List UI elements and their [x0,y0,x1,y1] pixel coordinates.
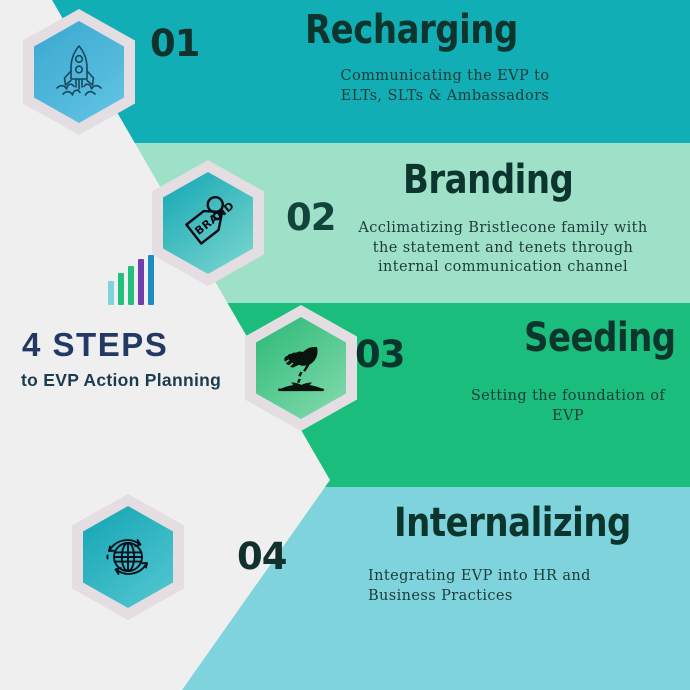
step-3-description: Setting the foundation of EVP [448,387,688,426]
step-4-title: Internalizing [394,503,631,543]
page-subtitle: to EVP Action Planning [21,372,221,390]
step-1-badge[interactable] [23,9,135,135]
decoration-bar [118,273,124,305]
step-2-description: Acclimatizing Bristlecone family with th… [358,219,648,278]
decoration-bar [148,255,154,305]
step-4-badge[interactable] [72,494,184,620]
step-2-badge[interactable]: BRAND [152,160,264,286]
decoration-bar [128,266,134,305]
bar-chart-decoration [108,255,160,305]
step-4-number: 04 [237,538,287,575]
step-1-number: 01 [150,25,200,62]
rocket-icon [50,41,108,103]
decoration-bar [138,259,144,305]
step-row-2: BRAND 02 Branding Acclimatizing Bristlec… [0,143,690,303]
step-3-badge[interactable] [245,305,357,431]
step-2-title: Branding [403,160,573,200]
brand-tag-icon: BRAND [176,191,240,255]
step-1-title: Recharging [305,10,518,50]
step-row-1: 01 Recharging Communicating the EVP to E… [0,0,690,143]
globe-arrows-icon [97,526,159,588]
decoration-bar [108,281,114,305]
step-4-description: Integrating EVP into HR and Business Pra… [368,567,658,606]
page-title: 4 STEPS [22,328,168,361]
step-row-4: 04 Internalizing Integrating EVP into HR… [0,487,690,690]
step-3-number: 03 [355,336,405,373]
infographic-poster: 01 Recharging Communicating the EVP to E… [0,0,690,690]
step-1-description: Communicating the EVP to ELTs, SLTs & Am… [290,67,600,106]
hand-seeding-icon [270,337,332,399]
step-3-title: Seeding [524,318,676,358]
step-2-number: 02 [286,199,336,236]
